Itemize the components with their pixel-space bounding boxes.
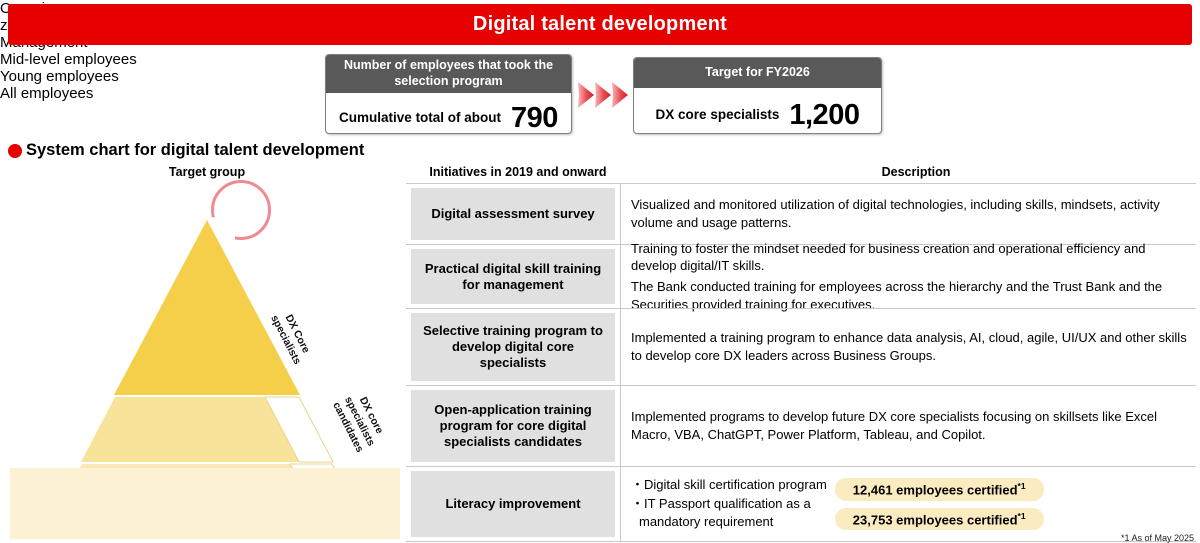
pyramid-label-all-employees: All employees bbox=[0, 85, 180, 102]
kpi-card-selection-program: Number of employees that took the select… bbox=[325, 54, 572, 134]
table-row: Open-application training program for co… bbox=[406, 385, 1196, 466]
kpi-right-body: DX core specialists 1,200 bbox=[634, 88, 881, 134]
kpi-left-header: Number of employees that took the select… bbox=[326, 55, 571, 93]
certification-pill-group: 12,461 employees certified*1 23,753 empl… bbox=[835, 478, 1044, 530]
chevron-right-icon bbox=[578, 82, 594, 108]
slide-title-bar: Digital talent development bbox=[8, 4, 1192, 45]
initiative-cell: Selective training program to develop di… bbox=[406, 309, 620, 385]
initiative-cell: Practical digital skill training for man… bbox=[406, 245, 620, 308]
description-paragraph: Implemented a training program to enhanc… bbox=[631, 329, 1188, 364]
page-title: Digital talent development bbox=[473, 13, 727, 36]
description-cell: Visualized and monitored utilization of … bbox=[620, 184, 1196, 244]
description-cell: Implemented programs to develop future D… bbox=[620, 386, 1196, 466]
literacy-content: ・Digital skill certification program ・IT… bbox=[631, 476, 1188, 533]
description-paragraph: Training to foster the mindset needed fo… bbox=[631, 240, 1188, 275]
kpi-left-body: Cumulative total of about 790 bbox=[326, 93, 571, 134]
column-header-target-group: Target group bbox=[132, 165, 282, 179]
column-header-initiatives: Initiatives in 2019 and onward bbox=[420, 165, 616, 179]
initiative-cell: Digital assessment survey bbox=[406, 184, 620, 244]
chevron-right-icon bbox=[595, 82, 611, 108]
target-group-pyramid bbox=[0, 180, 410, 539]
list-item: ・IT Passport qualification as a bbox=[631, 495, 827, 514]
description-cell: Implemented a training program to enhanc… bbox=[620, 309, 1196, 385]
slide-root: Digital talent development Number of emp… bbox=[0, 0, 1200, 539]
literacy-bullet-list: ・Digital skill certification program ・IT… bbox=[631, 476, 827, 533]
initiatives-table: Digital assessment survey Visualized and… bbox=[406, 183, 1196, 542]
chevron-right-icon bbox=[612, 82, 628, 108]
pyramid-label-mid-level: Mid-level employees bbox=[0, 51, 140, 68]
list-item: ・Digital skill certification program bbox=[631, 476, 827, 495]
description-cell: Training to foster the mindset needed fo… bbox=[620, 245, 1196, 308]
list-item-continuation: mandatory requirement bbox=[631, 513, 827, 532]
red-bullet-icon bbox=[8, 144, 22, 158]
initiative-label: Practical digital skill training for man… bbox=[411, 249, 615, 304]
table-row: Literacy improvement ・Digital skill cert… bbox=[406, 466, 1196, 542]
pyramid-shape bbox=[0, 180, 410, 539]
kpi-right-label: DX core specialists bbox=[656, 107, 780, 123]
table-row: Digital assessment survey Visualized and… bbox=[406, 183, 1196, 244]
kpi-left-label: Cumulative total of about bbox=[339, 110, 501, 126]
kpi-right-value: 1,200 bbox=[789, 101, 859, 130]
initiative-label: Selective training program to develop di… bbox=[411, 313, 615, 381]
pyramid-level-all bbox=[10, 468, 400, 539]
initiative-label: Digital assessment survey bbox=[411, 188, 615, 240]
pyramid-label-young: Young employees bbox=[0, 68, 170, 85]
description-paragraph: Implemented programs to develop future D… bbox=[631, 408, 1188, 443]
table-row: Selective training program to develop di… bbox=[406, 308, 1196, 385]
kpi-right-header: Target for FY2026 bbox=[634, 58, 881, 88]
triple-chevron-right-icon bbox=[578, 80, 630, 110]
section-heading-label: System chart for digital talent developm… bbox=[26, 141, 364, 160]
kpi-left-value: 790 bbox=[511, 104, 558, 133]
status-badge: 12,461 employees certified*1 bbox=[835, 478, 1044, 500]
initiative-cell: Literacy improvement bbox=[406, 467, 620, 541]
kpi-card-target-fy2026: Target for FY2026 DX core specialists 1,… bbox=[633, 57, 882, 134]
initiative-cell: Open-application training program for co… bbox=[406, 386, 620, 466]
description-cell: ・Digital skill certification program ・IT… bbox=[620, 467, 1196, 541]
footnote: *1 As of May 2025 bbox=[1121, 533, 1194, 543]
table-row: Practical digital skill training for man… bbox=[406, 244, 1196, 308]
column-header-description: Description bbox=[636, 165, 1196, 179]
initiative-label: Literacy improvement bbox=[411, 471, 615, 537]
status-badge: 23,753 employees certified*1 bbox=[835, 508, 1044, 530]
section-heading: System chart for digital talent developm… bbox=[8, 141, 364, 160]
initiative-label: Open-application training program for co… bbox=[411, 390, 615, 462]
description-paragraph: Visualized and monitored utilization of … bbox=[631, 196, 1188, 231]
